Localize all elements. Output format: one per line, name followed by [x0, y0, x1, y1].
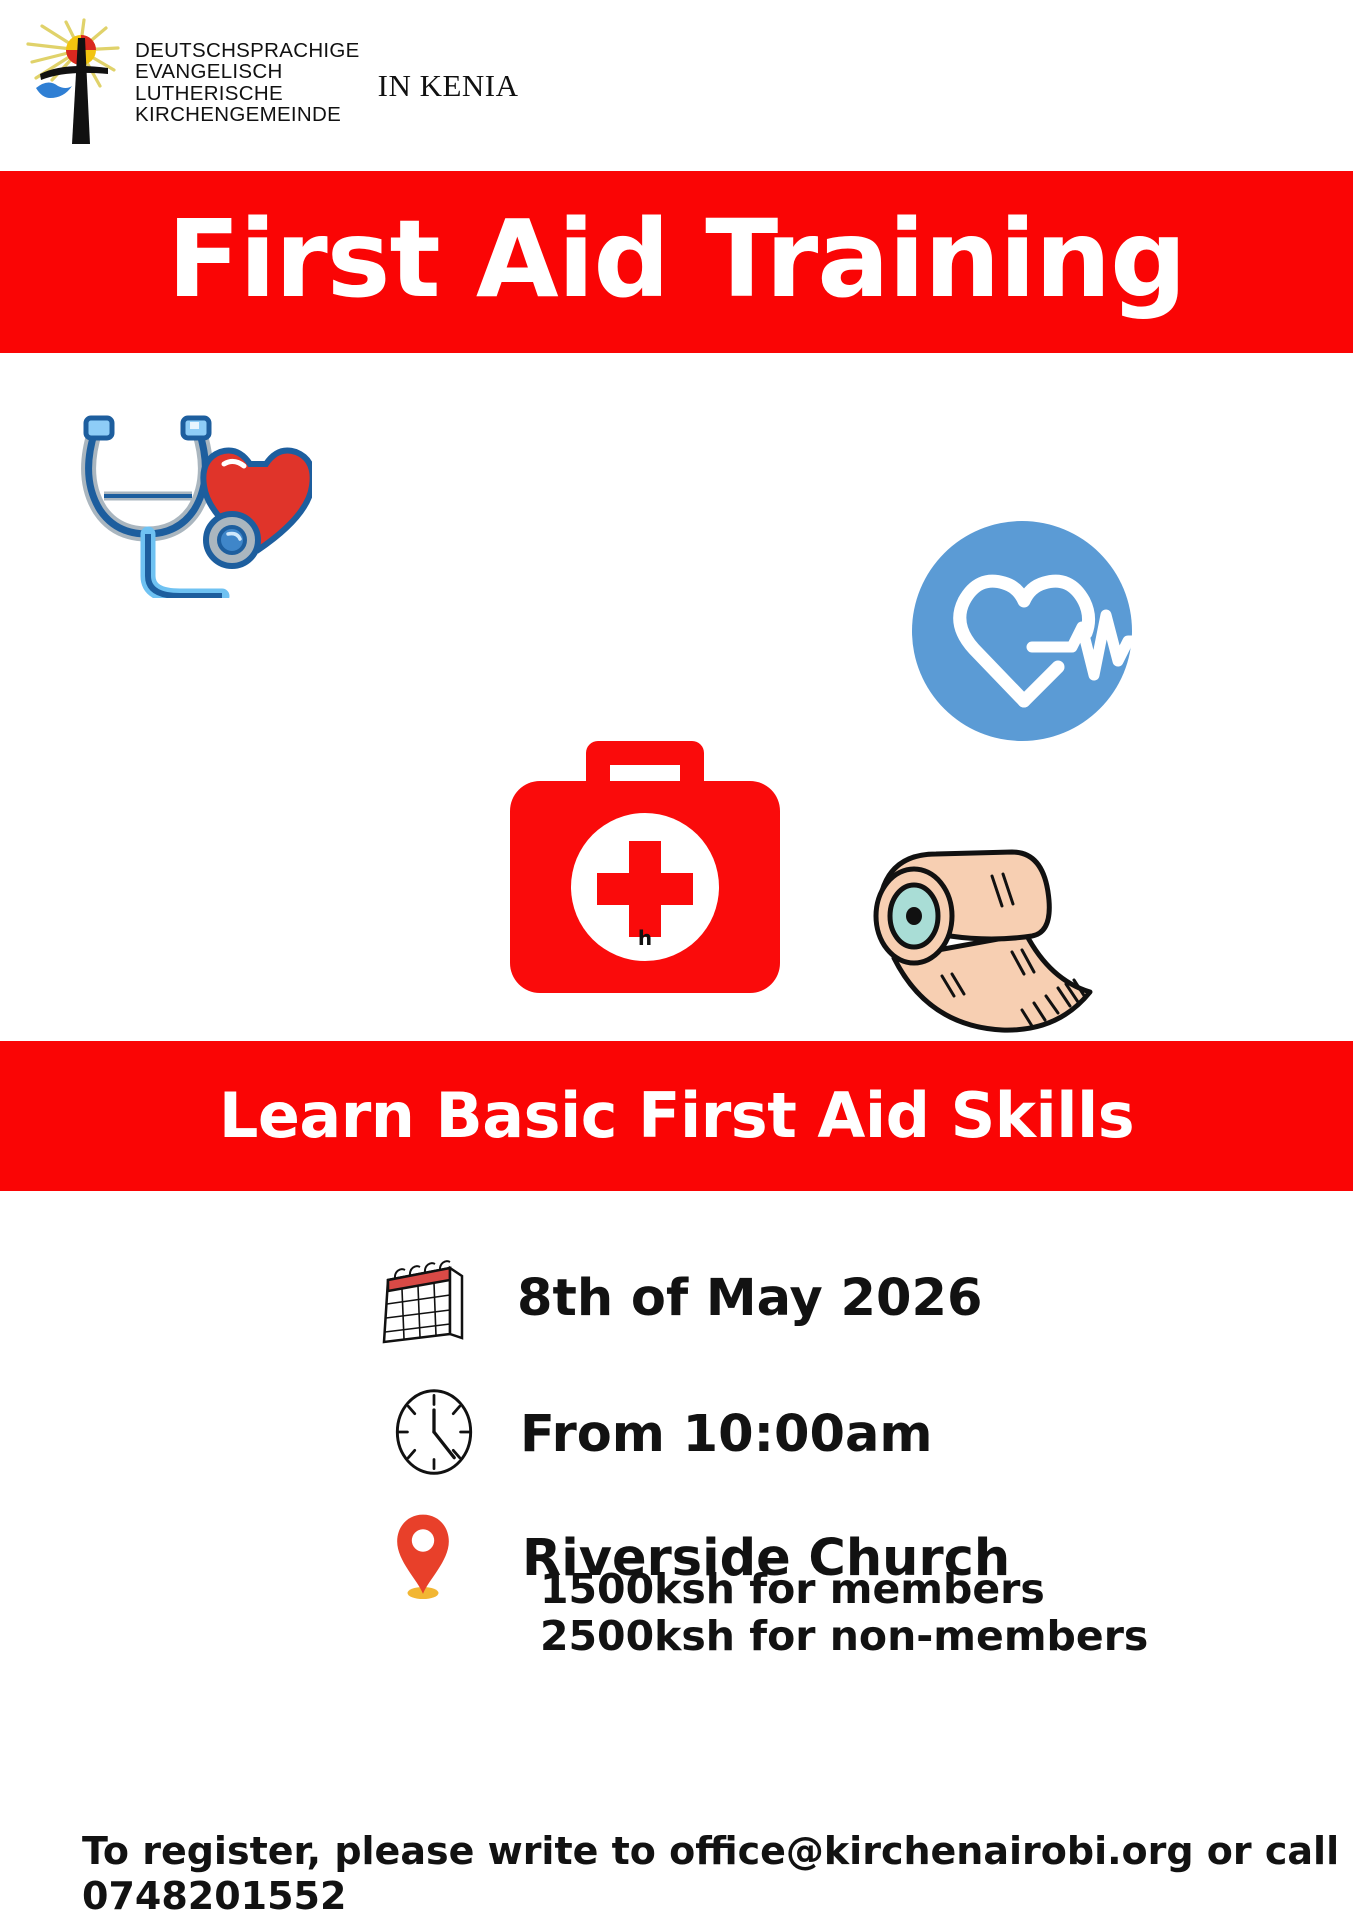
clock-icon	[390, 1386, 478, 1483]
first-aid-kit-illustration: h	[494, 731, 796, 998]
detail-row-date: 8th of May 2026	[378, 1246, 982, 1351]
price-members: 1500ksh for members	[540, 1566, 1148, 1613]
bandage-roll-illustration	[842, 840, 1098, 1034]
poster-title: First Aid Training	[167, 207, 1185, 314]
detail-label-time: From 10:00am	[520, 1409, 933, 1460]
location-pin-icon	[392, 1511, 454, 1606]
stethoscope-heart-illustration	[62, 398, 312, 598]
title-banner: First Aid Training	[0, 171, 1353, 353]
heartbeat-pulse-circle-icon	[912, 521, 1132, 741]
logo-text-block: DEUTSCHSPRACHIGE EVANGELISCH LUTHERISCHE…	[135, 40, 519, 125]
calendar-icon	[378, 1246, 474, 1351]
svg-text:h: h	[638, 926, 652, 950]
registration-info: To register, please write to office@kirc…	[82, 1829, 1342, 1919]
register-line-2: 0748201552	[82, 1874, 1342, 1919]
logo-header: DEUTSCHSPRACHIGE EVANGELISCH LUTHERISCHE…	[0, 0, 1357, 165]
illustration-area: h	[0, 353, 1357, 1041]
org-line-2: EVANGELISCH	[135, 61, 360, 82]
subtitle-banner: Learn Basic First Aid Skills	[0, 1041, 1353, 1191]
org-line-1: DEUTSCHSPRACHIGE	[135, 40, 360, 61]
church-cross-sun-dove-logo	[22, 18, 127, 148]
detail-label-date: 8th of May 2026	[517, 1273, 982, 1324]
org-name-lines: DEUTSCHSPRACHIGE EVANGELISCH LUTHERISCHE…	[135, 40, 360, 125]
org-line-3: LUTHERISCHE	[135, 83, 360, 104]
org-country: IN KENIA	[378, 68, 519, 104]
register-line-1: To register, please write to office@kirc…	[82, 1829, 1342, 1874]
poster-subtitle: Learn Basic First Aid Skills	[219, 1085, 1134, 1147]
price-non-members: 2500ksh for non-members	[540, 1613, 1148, 1660]
detail-row-time: From 10:00am	[390, 1386, 933, 1483]
org-line-4: KIRCHENGEMEINDE	[135, 104, 360, 125]
price-list: 1500ksh for members 2500ksh for non-memb…	[540, 1566, 1148, 1659]
